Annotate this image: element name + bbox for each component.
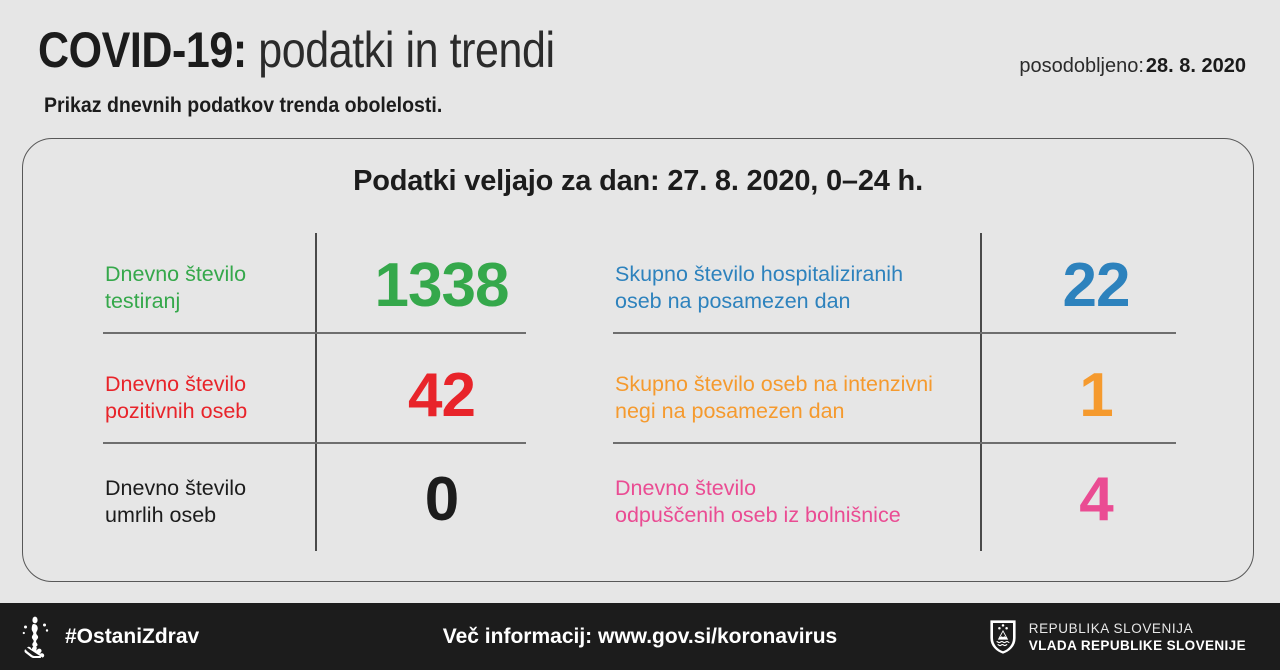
data-card: Podatki veljajo za dan: 27. 8. 2020, 0–2… xyxy=(22,138,1254,582)
stat-label-discharged: Dnevno število odpuščenih oseb iz bolniš… xyxy=(613,475,982,529)
gov-line-republic: REPUBLIKA SLOVENIJA xyxy=(1029,620,1246,637)
hand-washing-icon xyxy=(22,616,52,658)
page-header: COVID-19: podatki in trendi Prikaz dnevn… xyxy=(0,0,1280,136)
page-footer: #OstaniZdrav Več informacij: www.gov.si/… xyxy=(0,603,1280,670)
stat-label-hospitalized: Skupno število hospitaliziranih oseb na … xyxy=(613,261,982,315)
footer-gov-group: REPUBLIKA SLOVENIJA VLADA REPUBLIKE SLOV… xyxy=(989,603,1246,670)
updated-label: posodobljeno: xyxy=(1019,55,1144,77)
stat-row-discharged: Dnevno število odpuščenih oseb iz bolniš… xyxy=(613,453,1198,551)
stat-row-positive: Dnevno število pozitivnih oseb 42 xyxy=(103,343,548,453)
updated-date: 28. 8. 2020 xyxy=(1144,55,1246,77)
stat-value-tests: 1338 xyxy=(335,255,548,317)
stat-value-hospitalized: 22 xyxy=(994,255,1198,317)
stat-value-positive: 42 xyxy=(335,365,548,427)
gov-text-block: REPUBLIKA SLOVENIJA VLADA REPUBLIKE SLOV… xyxy=(1029,620,1246,654)
slovenia-coat-of-arms-icon xyxy=(989,619,1017,655)
stats-column-right: Skupno število hospitaliziranih oseb na … xyxy=(613,233,1198,551)
page-title-bold: COVID-19: xyxy=(38,22,247,78)
stat-value-intensive-care: 1 xyxy=(994,365,1198,427)
stat-value-discharged: 4 xyxy=(994,469,1198,531)
footer-hashtag-label[interactable]: #OstaniZdrav xyxy=(65,625,199,649)
page-title: COVID-19: podatki in trendi xyxy=(38,20,555,80)
stat-row-hospitalized: Skupno število hospitaliziranih oseb na … xyxy=(613,233,1198,343)
footer-info-link[interactable]: Več informacij: www.gov.si/koronavirus xyxy=(443,625,837,649)
stat-value-deaths: 0 xyxy=(335,469,548,531)
stat-row-intensive-care: Skupno število oseb na intenzivni negi n… xyxy=(613,343,1198,453)
page-subtitle: Prikaz dnevnih podatkov trenda obolelost… xyxy=(44,94,442,118)
updated-stamp: posodobljeno:28. 8. 2020 xyxy=(1019,55,1246,78)
stat-row-deaths: Dnevno število umrlih oseb 0 xyxy=(103,453,548,551)
gov-line-government: VLADA REPUBLIKE SLOVENIJE xyxy=(1029,637,1246,654)
stat-label-deaths: Dnevno število umrlih oseb xyxy=(103,475,317,529)
stat-row-tests: Dnevno število testiranj 1338 xyxy=(103,233,548,343)
stat-label-tests: Dnevno število testiranj xyxy=(103,261,317,315)
page-title-light: podatki in trendi xyxy=(247,22,555,78)
card-title: Podatki veljajo za dan: 27. 8. 2020, 0–2… xyxy=(23,165,1253,198)
stat-label-intensive-care: Skupno število oseb na intenzivni negi n… xyxy=(613,371,982,425)
footer-hashtag-group: #OstaniZdrav xyxy=(22,603,199,670)
stats-column-left: Dnevno število testiranj 1338 Dnevno šte… xyxy=(103,233,548,551)
stat-label-positive: Dnevno število pozitivnih oseb xyxy=(103,371,317,425)
